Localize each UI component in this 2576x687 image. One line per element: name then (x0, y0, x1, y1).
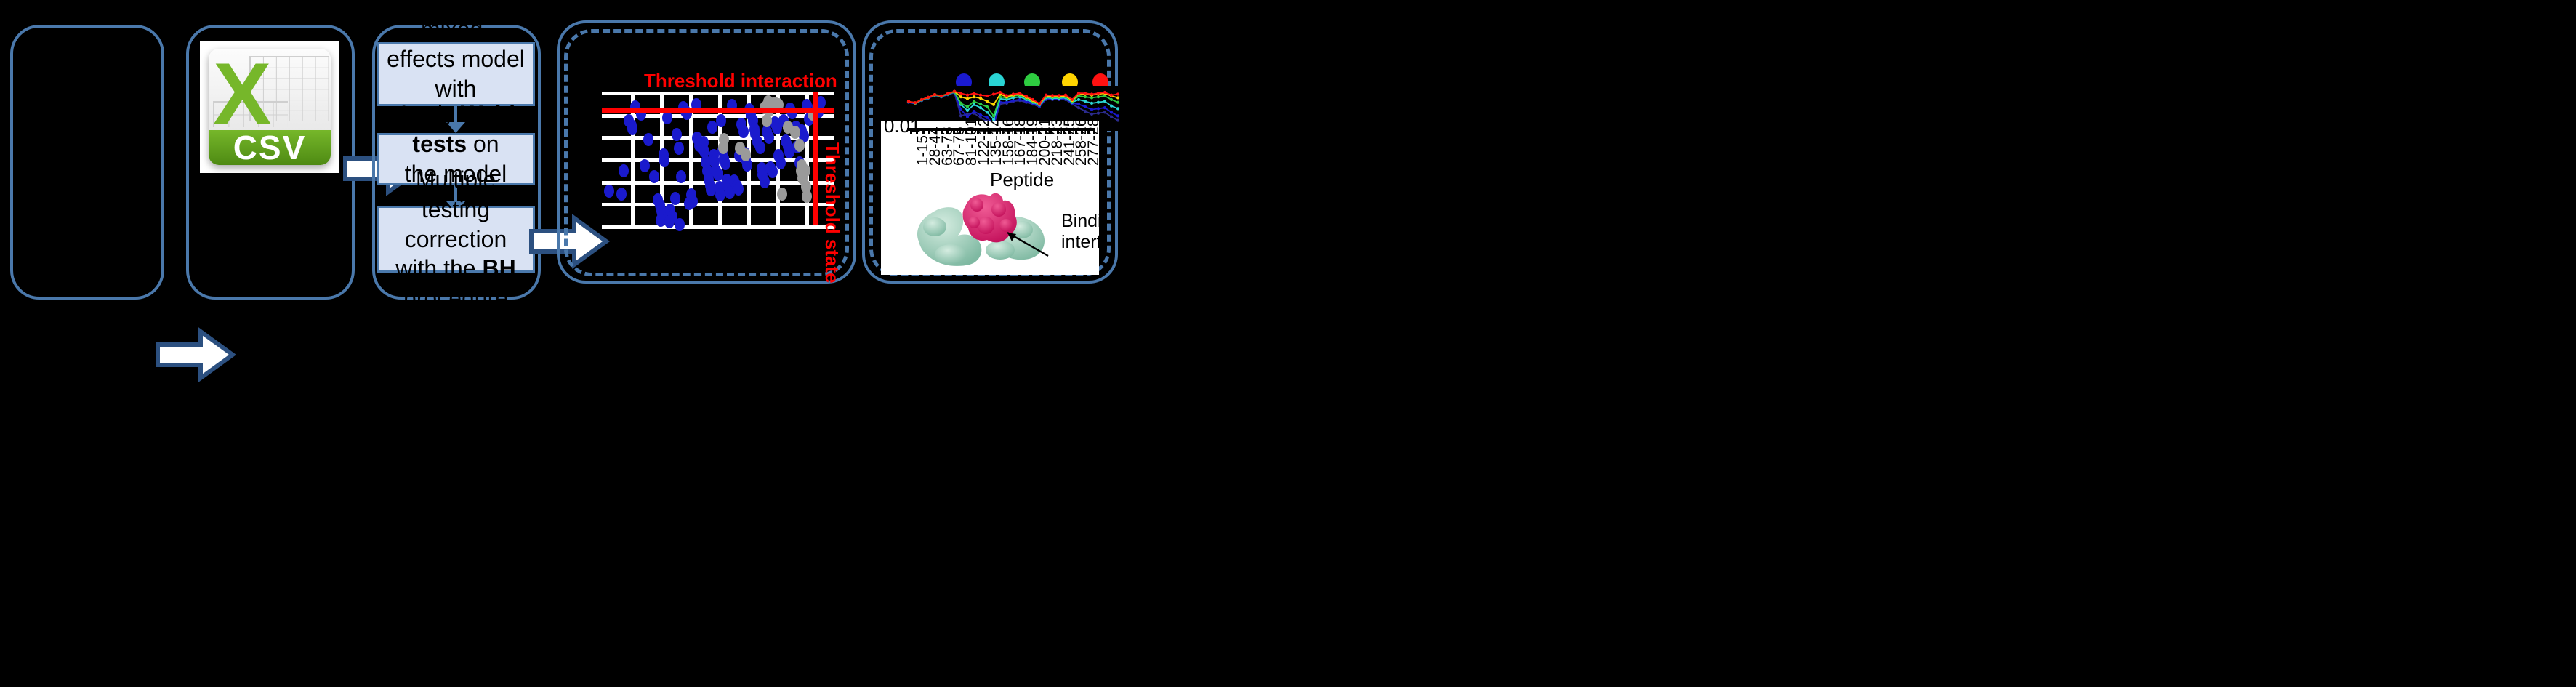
peptide-series-marker (1012, 99, 1015, 102)
peptide-series-marker (966, 97, 969, 100)
x-axis-tick (922, 128, 925, 134)
peptide-series-marker (986, 95, 989, 97)
peptide-series-marker (907, 100, 910, 103)
peptide-series-marker (1018, 98, 1021, 101)
peptide-series-marker (1084, 95, 1087, 98)
peptide-series-marker (973, 100, 975, 103)
peptide-series-marker (1005, 101, 1008, 104)
peptide-series-marker (979, 103, 982, 105)
scatter-point (716, 114, 726, 127)
peptide-series-marker (979, 116, 982, 119)
binding-interface-line-2: interface (1061, 232, 1099, 253)
peptide-series-marker (979, 106, 982, 109)
binding-interface-line-1: Binding (1061, 211, 1099, 232)
excel-x-glyph: X (213, 50, 271, 137)
peptide-series-marker (1116, 96, 1119, 99)
peptide-series-marker (1045, 94, 1047, 97)
wald-seg-3: on (467, 131, 499, 157)
peptide-series-marker (1116, 114, 1119, 117)
peptide-series-marker (1103, 91, 1106, 94)
peptide-series-marker (940, 95, 943, 97)
peptide-series-marker (1084, 100, 1087, 103)
peptide-series-marker (914, 101, 917, 104)
peptide-series-marker (992, 103, 995, 106)
peptide-series-marker (953, 90, 956, 93)
peptide-series-marker (966, 109, 969, 112)
peptide-series-marker (1110, 105, 1113, 108)
arrow-input-to-csv (156, 329, 236, 381)
peptide-series-marker (1090, 96, 1093, 99)
peptide-series-marker (986, 100, 989, 103)
bh-seg-4: BH (482, 255, 515, 281)
peptide-series-marker (986, 111, 989, 113)
peptide-series-marker (1103, 95, 1106, 97)
fit-model-box: Fit a linear mixed- effects model with R… (377, 42, 535, 106)
scatter-point (720, 157, 730, 170)
peptide-series-marker (1058, 94, 1060, 97)
peptide-series-marker (966, 94, 969, 97)
scatter-point (790, 126, 800, 139)
volcano-scatter-plot (602, 92, 834, 225)
scatter-point (776, 156, 786, 169)
peptide-series-marker (1071, 98, 1074, 101)
bh-seg-3: with the (395, 255, 482, 281)
scatter-point (802, 190, 812, 203)
scatter-point (604, 185, 614, 198)
peptide-series-marker (1110, 94, 1113, 97)
protein-structure-image (913, 188, 1051, 269)
peptide-series-marker (1038, 102, 1041, 105)
peptide-series-marker (1116, 101, 1119, 104)
wald-seg-1: Apply (396, 101, 461, 127)
bh-line-2: correction (385, 225, 527, 254)
scatter-point (670, 192, 680, 205)
peptide-series-marker (992, 92, 995, 95)
peptide-series-marker (1103, 100, 1106, 103)
peptide-series-marker (1097, 101, 1100, 104)
fit-model-line-2: effects model with (385, 44, 527, 104)
csv-label-band: CSV (209, 130, 331, 165)
peptide-series-marker (966, 105, 969, 108)
threshold-interaction-line (602, 108, 834, 113)
scatter-point (738, 125, 749, 138)
scatter-gridline-h (602, 203, 834, 206)
peptide-series-marker (973, 103, 975, 106)
input-panel (10, 25, 164, 300)
wald-line-1: Apply Wald tests on (385, 100, 527, 159)
scatter-point (676, 170, 686, 183)
peptide-series-marker (1077, 92, 1080, 95)
peptide-series-marker (1097, 112, 1100, 115)
peptide-series-marker (1051, 94, 1054, 97)
peptide-series-marker (986, 105, 989, 108)
scatter-point (627, 122, 637, 135)
peptide-series-marker (959, 95, 962, 98)
scatter-point (760, 175, 770, 188)
peptide-series-marker (1005, 94, 1008, 97)
bh-text: Multiple testing correction with the BH … (385, 165, 527, 314)
x-axis-tick-label: 277-284 (1085, 121, 1099, 166)
peptide-series-marker (1077, 98, 1080, 101)
peptide-series-marker (1116, 107, 1119, 110)
bh-seg-2: correction (405, 226, 507, 252)
peptide-series-marker (1097, 92, 1100, 95)
fit-model-seg-2: effects model with (387, 46, 525, 102)
peptide-series-marker (1018, 92, 1021, 95)
binding-interface-label: Binding interface (1061, 211, 1099, 253)
peptide-series-marker (1077, 103, 1080, 105)
csv-label: CSV (233, 128, 307, 165)
scatter-point (794, 139, 805, 152)
scatter-point (619, 164, 629, 177)
scatter-point (762, 114, 772, 127)
scatter-point (755, 141, 765, 154)
peptide-series-marker (979, 97, 982, 100)
peptide-series-marker (1084, 92, 1087, 95)
peptide-series-marker (1103, 111, 1106, 113)
peptide-series-marker (979, 94, 982, 97)
scatter-point (640, 159, 650, 172)
protein-surface-svg (913, 188, 1051, 269)
peptide-series-marker (1116, 92, 1119, 95)
peptide-series-marker (1090, 108, 1093, 111)
peptide-series-marker (1097, 107, 1100, 110)
peptide-series-marker (1110, 111, 1113, 113)
arrow-right-icon (156, 329, 236, 381)
scatter-point (649, 170, 659, 183)
peptide-series-marker (1090, 92, 1093, 95)
scatter-point (733, 182, 744, 196)
bh-seg-5: procedure (403, 285, 508, 311)
peptide-series-marker (1031, 98, 1034, 101)
bh-seg-1: Multiple testing (416, 166, 496, 222)
bh-line-1: Multiple testing (385, 165, 527, 225)
peptide-series-marker (959, 108, 962, 111)
x-axis-tick (916, 128, 918, 134)
peptide-series-marker (1110, 98, 1113, 101)
peptide-series-marker (1064, 94, 1067, 97)
scatter-point (659, 154, 669, 167)
peptide-series-marker (1090, 113, 1093, 116)
scatter-point (672, 128, 682, 141)
peptide-series-marker (959, 102, 962, 105)
fit-model-line-1: Fit a linear mixed- (385, 0, 527, 44)
peptide-series-marker (992, 114, 995, 117)
scatter-point (643, 133, 653, 146)
scatter-point (777, 188, 787, 201)
peptide-series-marker (946, 92, 949, 95)
peptide-series-marker (920, 98, 923, 101)
scatter-point (616, 188, 627, 201)
csv-icon-body: X CSV (209, 49, 331, 165)
peptide-series-marker (1077, 106, 1080, 109)
peptide-series-marker (973, 92, 975, 95)
peptide-series-marker (979, 113, 982, 116)
peptide-series-marker (959, 114, 962, 117)
peptide-series-marker (1097, 95, 1100, 98)
peptide-series-marker (1012, 92, 1015, 95)
peptide-series-marker (999, 91, 1002, 94)
x-axis-tick (910, 128, 912, 134)
peptide-series-marker (1110, 115, 1113, 118)
csv-file-icon: X CSV (200, 41, 339, 173)
peptide-series-marker (1084, 110, 1087, 113)
bh-correction-box: Multiple testing correction with the BH … (377, 206, 535, 273)
peptide-series-marker (986, 116, 989, 119)
scatter-point (674, 142, 684, 155)
bh-line-3: with the BH procedure (385, 254, 527, 313)
peptide-series-marker (959, 92, 962, 95)
peptide-series-marker (966, 115, 969, 118)
threshold-state-label: Threshold state (821, 142, 843, 284)
peptide-series-marker (1025, 95, 1028, 97)
threshold-state-line (813, 92, 818, 225)
peptide-series-marker (973, 110, 975, 113)
peptide-axis-and-structure-card: 0.01 1-1528-4463-7367-7581-101122-129135… (881, 121, 1099, 275)
peptide-series-marker (973, 95, 975, 98)
peptide-series-marker (1116, 118, 1119, 121)
peptide-series-marker (1103, 106, 1106, 109)
scatter-gridline-h (602, 225, 834, 229)
scatter-point (688, 195, 698, 208)
fit-model-seg-1: Fit a linear mixed- (401, 0, 510, 42)
peptide-series-marker (927, 96, 930, 99)
peptide-series-marker (1090, 102, 1093, 105)
peptide-series-marker (1084, 105, 1087, 108)
threshold-interaction-label: Threshold interaction (644, 70, 837, 92)
peptide-series-marker (933, 93, 936, 96)
